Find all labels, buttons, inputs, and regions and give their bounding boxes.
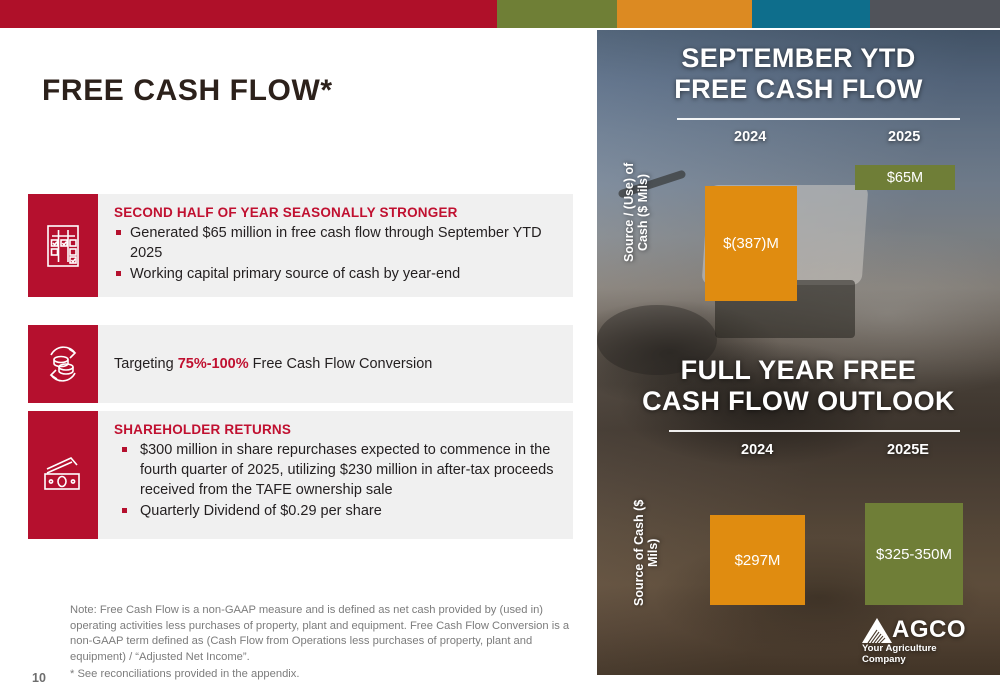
chart1-title-rule	[677, 118, 960, 120]
page-number: 10	[32, 671, 46, 685]
chart1-bar-2025: $65M	[855, 165, 955, 190]
chart2-title-line2: CASH FLOW OUTLOOK	[597, 386, 1000, 417]
list-item: Working capital primary source of cash b…	[114, 264, 559, 284]
content-block-shareholder-returns: SHAREHOLDER RETURNS $300 million in shar…	[28, 411, 573, 539]
chart2-bar-2024-label: $297M	[735, 552, 781, 569]
chart2-title-line1: FULL YEAR FREE	[597, 355, 1000, 386]
conversion-range-value: 75%-100%	[178, 356, 249, 372]
chart1-title: SEPTEMBER YTD FREE CASH FLOW	[597, 43, 1000, 105]
content-block-body: Targeting 75%-100% Free Cash Flow Conver…	[98, 325, 573, 403]
chart1-bar-2024-label: $(387)M	[723, 235, 779, 252]
agco-wordmark: AGCO	[892, 616, 966, 644]
chart2-bar-2024: $297M	[710, 515, 805, 605]
content-block-conversion: Targeting 75%-100% Free Cash Flow Conver…	[28, 325, 573, 403]
chart2-y-axis-label-text: Source of Cash ($ Mils)	[632, 500, 660, 606]
topbar-segment-teal	[752, 0, 870, 28]
content-block-second-half: SECOND HALF OF YEAR SEASONALLY STRONGER …	[28, 194, 573, 297]
block-heading: SECOND HALF OF YEAR SEASONALLY STRONGER	[114, 205, 559, 220]
chart2-category-2024: 2024	[741, 442, 773, 458]
chart1-title-line1: SEPTEMBER YTD	[597, 43, 1000, 74]
topbar-segment-gray	[870, 0, 1000, 28]
bullet-list: Generated $65 million in free cash flow …	[114, 223, 559, 284]
chart1-y-axis-label-text: Source / (Use) of Cash ($ Mils)	[622, 163, 650, 262]
checklist-icon	[28, 194, 98, 297]
left-content-panel: FREE CASH FLOW* SECOND HALF OF YEAR SEAS…	[0, 28, 597, 685]
chart2-y-axis-label: Source of Cash ($ Mils)	[632, 498, 660, 608]
chart2-bar-2025e: $325-350M	[865, 503, 963, 605]
banknotes-icon	[28, 411, 98, 539]
topbar-segment-green	[497, 0, 617, 28]
agco-tagline: Your Agriculture Company	[862, 643, 982, 665]
agco-logo: AGCO Your Agriculture Company	[862, 616, 982, 660]
chart1-category-2024: 2024	[734, 129, 766, 145]
footnote-note: Note: Free Cash Flow is a non-GAAP measu…	[70, 603, 570, 665]
topbar-segment-orange	[617, 0, 752, 28]
conversion-target-text: Targeting 75%-100% Free Cash Flow Conver…	[114, 354, 432, 374]
chart1-title-line2: FREE CASH FLOW	[597, 74, 1000, 105]
chart2-title: FULL YEAR FREE CASH FLOW OUTLOOK	[597, 355, 1000, 417]
footnote-star: * See reconciliations provided in the ap…	[70, 667, 570, 683]
text-suffix: Free Cash Flow Conversion	[249, 356, 433, 372]
chart2-title-rule	[669, 430, 960, 432]
page-title: FREE CASH FLOW*	[42, 74, 333, 108]
footnote: Note: Free Cash Flow is a non-GAAP measu…	[70, 603, 570, 683]
chart1-bar-2025-label: $65M	[887, 170, 923, 186]
content-block-body: SECOND HALF OF YEAR SEASONALLY STRONGER …	[98, 194, 573, 297]
chart1-y-axis-label: Source / (Use) of Cash ($ Mils)	[622, 150, 650, 275]
chart1-bar-2024: $(387)M	[705, 186, 797, 301]
block-heading: SHAREHOLDER RETURNS	[114, 422, 559, 437]
chart2-category-2025e: 2025E	[887, 442, 929, 458]
bullet-list: $300 million in share repurchases expect…	[114, 440, 559, 521]
list-item: Generated $65 million in free cash flow …	[114, 223, 559, 263]
agco-logo-mark-icon	[862, 618, 892, 644]
chart2-bar-2025e-label: $325-350M	[876, 546, 952, 563]
right-photo-panel: SEPTEMBER YTD FREE CASH FLOW 2024 2025 S…	[597, 30, 1000, 675]
list-item: $300 million in share repurchases expect…	[114, 440, 559, 500]
list-item: Quarterly Dividend of $0.29 per share	[114, 501, 559, 521]
topbar-segment-red	[0, 0, 497, 28]
top-color-bar	[0, 0, 1000, 28]
cash-conversion-icon	[28, 325, 98, 403]
chart1-category-2025: 2025	[888, 129, 920, 145]
text-prefix: Targeting	[114, 356, 178, 372]
content-block-body: SHAREHOLDER RETURNS $300 million in shar…	[98, 411, 573, 539]
